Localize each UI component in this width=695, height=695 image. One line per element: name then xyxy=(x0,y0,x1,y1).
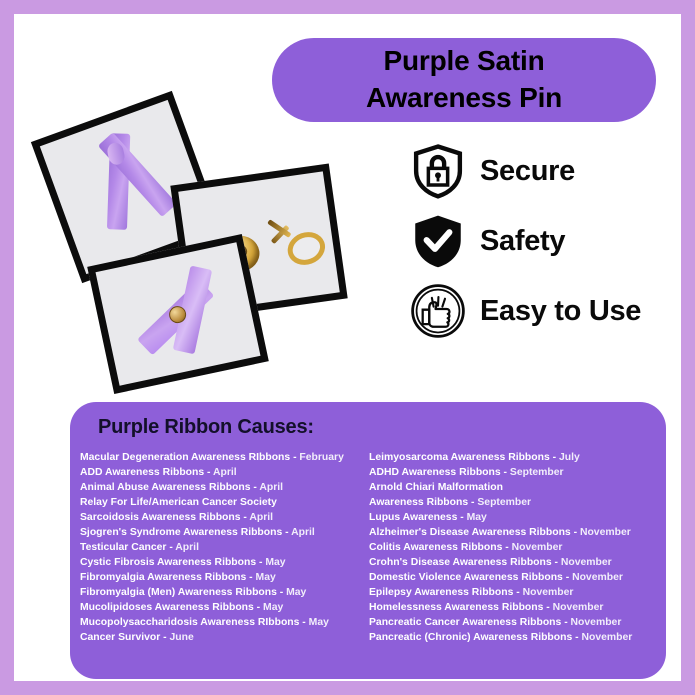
cause-month: June xyxy=(167,632,194,643)
cause-month: September xyxy=(507,467,564,478)
cause-month: May xyxy=(262,557,285,568)
title-line-2: Awareness Pin xyxy=(366,80,562,117)
cause-name: Fibromyalgia (Men) Awareness Ribbons - xyxy=(80,587,283,598)
cause-name: Cystic Fibrosis Awareness Ribbons - xyxy=(80,557,262,568)
cause-name: Fibromyalgia Awareness Ribbons - xyxy=(80,572,253,583)
cause-month: November xyxy=(520,587,574,598)
product-photo-collage xyxy=(44,114,404,379)
cause-name: ADHD Awareness Ribbons - xyxy=(369,467,507,478)
cause-name: Mucolipidoses Awareness Ribbons - xyxy=(80,602,260,613)
content-area: Purple Satin Awareness Pin xyxy=(14,14,681,681)
cause-name: Pancreatic Cancer Awareness Ribbons - xyxy=(369,617,568,628)
cause-item: ADHD Awareness Ribbons - September xyxy=(369,465,654,480)
cause-month: May xyxy=(253,572,276,583)
cause-month: November xyxy=(509,542,563,553)
cause-item: Macular Degeneration Awareness RIbbons -… xyxy=(80,450,365,465)
cause-name: Animal Abuse Awareness Ribbons - xyxy=(80,482,257,493)
cause-name: Mucopolysaccharidosis Awareness RIbbons … xyxy=(80,617,306,628)
cause-name: ADD Awareness Ribbons - xyxy=(80,467,211,478)
cause-item: Leimyosarcoma Awareness Ribbons - July xyxy=(369,450,654,465)
cause-month: February xyxy=(297,452,344,463)
feature-label-easy-to-use: Easy to Use xyxy=(480,295,641,328)
cause-item: Mucopolysaccharidosis Awareness RIbbons … xyxy=(80,615,365,630)
cause-name: Sarcoidosis Awareness Ribbons - xyxy=(80,512,247,523)
cause-month: September xyxy=(474,497,531,508)
cause-name: Pancreatic (Chronic) Awareness Ribbons - xyxy=(369,632,579,643)
cause-name: Epilepsy Awareness Ribbons - xyxy=(369,587,520,598)
cause-name: Awareness Ribbons - xyxy=(369,497,474,508)
cause-month: April xyxy=(247,512,273,523)
cause-item: Relay For Life/American Cancer Society xyxy=(80,495,365,510)
thumbs-up-circle-icon xyxy=(410,283,466,339)
causes-column-left: Macular Degeneration Awareness RIbbons -… xyxy=(80,450,369,645)
cause-item: Fibromyalgia (Men) Awareness Ribbons - M… xyxy=(80,585,365,600)
product-infographic: Purple Satin Awareness Pin xyxy=(0,0,695,695)
cause-name: Crohn's Disease Awareness Ribbons - xyxy=(369,557,558,568)
cause-item: Pancreatic (Chronic) Awareness Ribbons -… xyxy=(369,630,654,645)
cause-item: Crohn's Disease Awareness Ribbons - Nove… xyxy=(369,555,654,570)
cause-month: May xyxy=(464,512,487,523)
cause-month: November xyxy=(550,602,604,613)
cause-item: Awareness Ribbons - September xyxy=(369,495,654,510)
cause-month: November xyxy=(569,572,623,583)
cause-name: Colitis Awareness Ribbons - xyxy=(369,542,509,553)
cause-name: Leimyosarcoma Awareness Ribbons - xyxy=(369,452,556,463)
causes-column-right: Leimyosarcoma Awareness Ribbons - JulyAD… xyxy=(369,450,658,645)
cause-item: Mucolipidoses Awareness Ribbons - May xyxy=(80,600,365,615)
cause-name: Arnold Chiari Malformation xyxy=(369,482,503,493)
feature-easy-to-use: Easy to Use xyxy=(410,276,680,346)
cause-month: November xyxy=(577,527,631,538)
cause-name: Alzheimer's Disease Awareness Ribbons - xyxy=(369,527,577,538)
cause-month: April xyxy=(173,542,199,553)
cause-month: May xyxy=(260,602,283,613)
cause-name: Sjogren's Syndrome Awareness Ribbons - xyxy=(80,527,289,538)
shield-lock-icon xyxy=(410,143,466,199)
cause-item: Fibromyalgia Awareness Ribbons - May xyxy=(80,570,365,585)
cause-item: Alzheimer's Disease Awareness Ribbons - … xyxy=(369,525,654,540)
cause-month: April xyxy=(289,527,315,538)
cause-month: April xyxy=(211,467,237,478)
purple-ribbon-causes-panel: Purple Ribbon Causes: Macular Degenerati… xyxy=(70,402,666,679)
shield-check-icon xyxy=(410,213,466,269)
cause-item: Cancer Survivor - June xyxy=(80,630,365,645)
cause-item: Sarcoidosis Awareness Ribbons - April xyxy=(80,510,365,525)
cause-item: Cystic Fibrosis Awareness Ribbons - May xyxy=(80,555,365,570)
feature-secure: Secure xyxy=(410,136,680,206)
title-line-1: Purple Satin xyxy=(384,43,545,80)
cause-item: Colitis Awareness Ribbons - November xyxy=(369,540,654,555)
cause-item: Homelessness Awareness Ribbons - Novembe… xyxy=(369,600,654,615)
causes-columns: Macular Degeneration Awareness RIbbons -… xyxy=(80,450,658,645)
cause-name: Testicular Cancer - xyxy=(80,542,173,553)
cause-item: Sjogren's Syndrome Awareness Ribbons - A… xyxy=(80,525,365,540)
cause-month: May xyxy=(283,587,306,598)
feature-safety: Safety xyxy=(410,206,680,276)
feature-label-secure: Secure xyxy=(480,155,575,188)
pin-clasp-icon xyxy=(266,221,317,267)
cause-name: Homelessness Awareness Ribbons - xyxy=(369,602,550,613)
cause-month: July xyxy=(556,452,580,463)
cause-item: Animal Abuse Awareness Ribbons - April xyxy=(80,480,365,495)
cause-item: Testicular Cancer - April xyxy=(80,540,365,555)
title-banner: Purple Satin Awareness Pin xyxy=(272,38,656,122)
cause-item: Epilepsy Awareness Ribbons - November xyxy=(369,585,654,600)
ribbon-graphic-2 xyxy=(96,242,261,385)
cause-item: ADD Awareness Ribbons - April xyxy=(80,465,365,480)
feature-list: Secure Safety xyxy=(410,136,680,346)
feature-label-safety: Safety xyxy=(480,225,565,258)
cause-name: Relay For Life/American Cancer Society xyxy=(80,497,277,508)
cause-item: Pancreatic Cancer Awareness Ribbons - No… xyxy=(369,615,654,630)
cause-month: November xyxy=(579,632,633,643)
cause-item: Domestic Violence Awareness Ribbons - No… xyxy=(369,570,654,585)
cause-name: Domestic Violence Awareness Ribbons - xyxy=(369,572,569,583)
cause-item: Lupus Awareness - May xyxy=(369,510,654,525)
cause-name: Cancer Survivor - xyxy=(80,632,167,643)
causes-heading: Purple Ribbon Causes: xyxy=(98,416,314,439)
cause-item: Arnold Chiari Malformation xyxy=(369,480,654,495)
cause-name: Macular Degeneration Awareness RIbbons - xyxy=(80,452,297,463)
cause-month: November xyxy=(558,557,612,568)
cause-month: November xyxy=(568,617,622,628)
cause-month: April xyxy=(257,482,283,493)
cause-name: Lupus Awareness - xyxy=(369,512,464,523)
cause-month: May xyxy=(306,617,329,628)
